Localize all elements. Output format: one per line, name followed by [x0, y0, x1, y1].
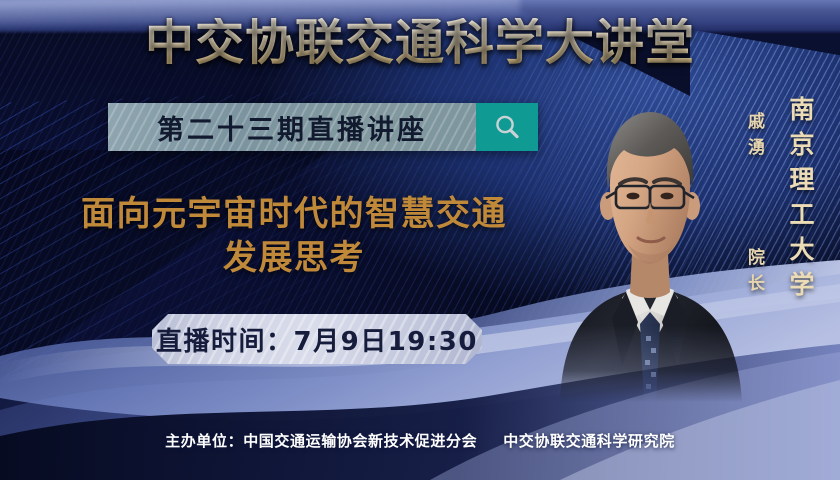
broadcast-time-label: 直播时间：7月9日19:30 [156, 321, 478, 358]
episode-label: 第二十三期直播讲座 [157, 108, 427, 147]
search-icon [492, 112, 522, 142]
page-title: 中交协联交通科学大讲堂 [0, 18, 840, 67]
footer-prefix: 主办单位： [165, 432, 243, 450]
speaker-portrait [552, 86, 748, 402]
episode-banner-body: 第二十三期直播讲座 [108, 103, 476, 151]
footer-organizers: 主办单位：中国交通运输协会新技术促进分会中交协联交通科学研究院 [0, 430, 840, 451]
speaker-organization: 南京理工大学 [782, 96, 818, 306]
footer-organizer-2: 中交协联交通科学研究院 [503, 432, 675, 450]
search-button[interactable] [476, 103, 538, 151]
footer-organizer-1: 中国交通运输协会新技术促进分会 [243, 432, 477, 450]
speaker-role: 院长 [742, 248, 767, 300]
speaker-name: 戚湧 [742, 112, 767, 164]
episode-banner: 第二十三期直播讲座 [108, 103, 538, 151]
broadcast-time-badge: 直播时间：7月9日19:30 [152, 314, 482, 364]
lecture-topic-line-1: 面向元宇宙时代的智慧交通 [34, 192, 554, 236]
lecture-topic-line-2: 发展思考 [34, 236, 554, 280]
lecture-poster: 中交协联交通科学大讲堂 第二十三期直播讲座 面向元宇宙时代的智慧交通 发展思考 … [0, 0, 840, 480]
lecture-topic: 面向元宇宙时代的智慧交通 发展思考 [34, 192, 554, 280]
